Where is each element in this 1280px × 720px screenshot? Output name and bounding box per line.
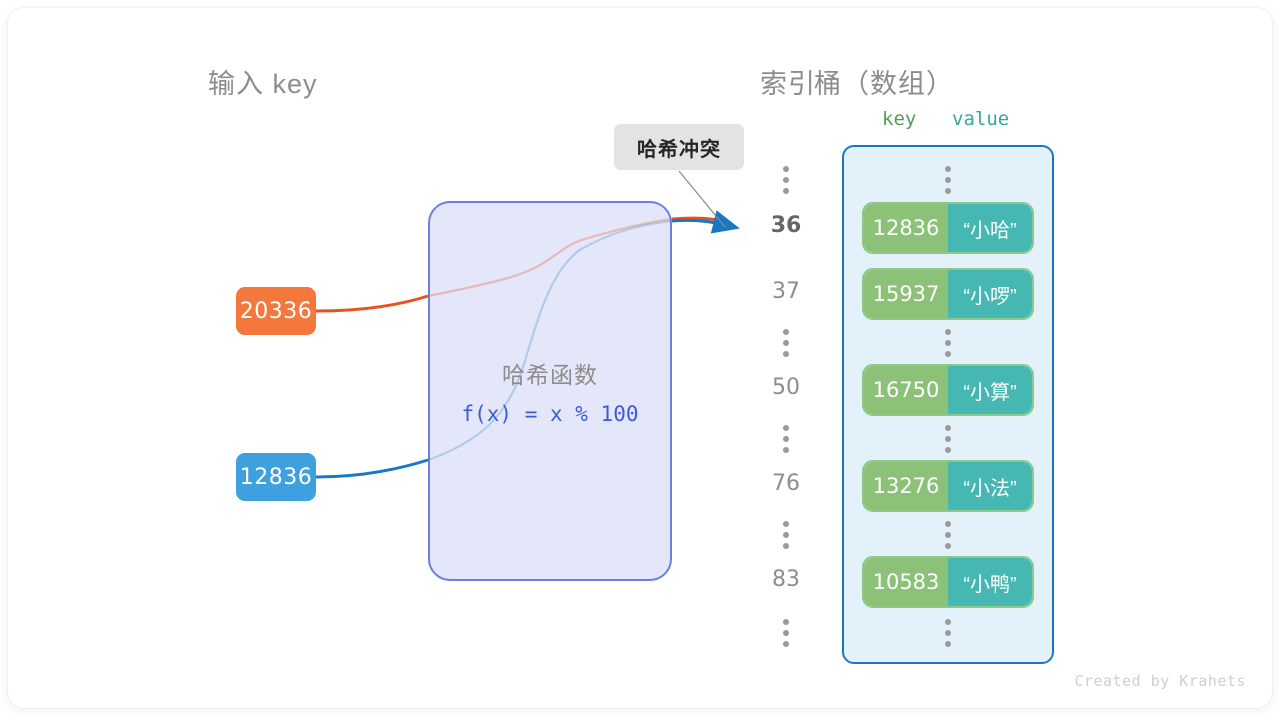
bucket-entry[interactable]: 10583“小鸭” <box>862 556 1034 608</box>
input-key-chip-1[interactable]: 12836 <box>236 453 316 501</box>
index-ellipsis <box>783 425 789 453</box>
wire-orange-out <box>672 218 724 221</box>
index-label-76: 76 <box>756 471 816 496</box>
entry-value: “小法” <box>948 462 1032 510</box>
entry-value: “小啰” <box>948 270 1032 318</box>
hash-function-box <box>428 201 672 581</box>
bucket-ellipsis <box>945 521 951 549</box>
entry-value: “小鸭” <box>948 558 1032 606</box>
bucket-ellipsis <box>945 619 951 647</box>
entry-key: 12836 <box>864 204 948 252</box>
bucket-entry[interactable]: 15937“小啰” <box>862 268 1034 320</box>
entry-key: 16750 <box>864 366 948 414</box>
entry-value: “小哈” <box>948 204 1032 252</box>
entry-key: 10583 <box>864 558 948 606</box>
wire-blue-in <box>316 460 428 477</box>
bucket-ellipsis <box>945 166 951 194</box>
index-ellipsis <box>783 619 789 647</box>
wire-blue-out-arrow <box>672 220 734 227</box>
bucket-ellipsis <box>945 329 951 357</box>
input-key-chip-0[interactable]: 20336 <box>236 287 316 335</box>
wire-orange-in <box>316 296 428 311</box>
callout-leader-line <box>679 171 725 227</box>
index-label-37: 37 <box>756 279 816 304</box>
hash-function-title: 哈希函数 <box>428 356 672 390</box>
heading-bucket: 桶（数组） <box>814 62 954 101</box>
index-ellipsis <box>783 329 789 357</box>
index-label-50: 50 <box>756 375 816 400</box>
entry-key: 13276 <box>864 462 948 510</box>
index-ellipsis <box>783 166 789 194</box>
bucket-entry[interactable]: 16750“小算” <box>862 364 1034 416</box>
subheading-value: value <box>952 108 1009 130</box>
bucket-entry[interactable]: 13276“小法” <box>862 460 1034 512</box>
diagram-card: 输入 key 索引 桶（数组） key value 20336 12836 哈希… <box>8 8 1272 708</box>
heading-index: 索引 <box>760 62 816 101</box>
subheading-key: key <box>882 108 916 130</box>
entry-key: 15937 <box>864 270 948 318</box>
footer-credit: Created by Krahets <box>1074 672 1246 690</box>
index-label-36: 36 <box>756 213 816 238</box>
hash-collision-callout: 哈希冲突 <box>614 124 744 170</box>
bucket-ellipsis <box>945 425 951 453</box>
bucket-entry[interactable]: 12836“小哈” <box>862 202 1034 254</box>
hash-function-formula: f(x) = x % 100 <box>428 402 672 426</box>
index-ellipsis <box>783 521 789 549</box>
entry-value: “小算” <box>948 366 1032 414</box>
index-label-83: 83 <box>756 567 816 592</box>
heading-input-key: 输入 key <box>208 62 318 101</box>
